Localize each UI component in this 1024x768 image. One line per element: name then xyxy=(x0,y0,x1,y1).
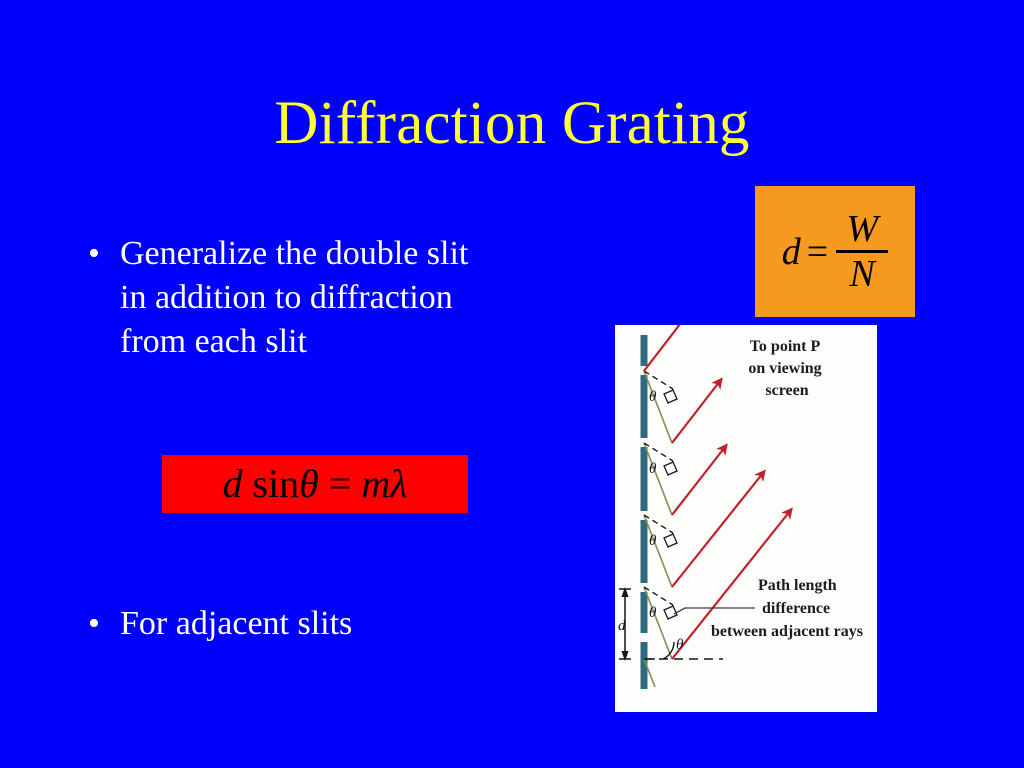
equation-equals: = xyxy=(329,461,352,506)
spacing-denominator-n: N xyxy=(844,253,881,293)
theta-label-3: θ xyxy=(649,533,657,549)
caption-to-point-p: To point P on viewing screen xyxy=(748,338,821,399)
diffraction-grating-figure: θ θ θ θ θ d xyxy=(615,325,877,712)
path-caption-line-1: Path length xyxy=(758,577,837,594)
spacing-fraction: W N xyxy=(836,210,888,293)
spacing-equation-box: d = W N xyxy=(755,186,915,317)
path-caption-line-3: between adjacent rays xyxy=(711,623,863,640)
caption-line-1: To point P xyxy=(750,338,821,355)
bullet-marker-icon: • xyxy=(88,232,120,276)
equation-symbol-lambda: λ xyxy=(390,461,407,506)
theta-label-4: θ xyxy=(649,605,657,621)
bullet-text-1: Generalize the double slit in addition t… xyxy=(120,232,480,365)
path-caption-line-2: difference xyxy=(762,600,830,617)
bullet-marker-icon: • xyxy=(88,602,120,646)
bullet-text-2: For adjacent slits xyxy=(120,602,352,646)
equation-symbol-d: d xyxy=(222,461,242,506)
theta-label-1: θ xyxy=(649,389,657,405)
spacing-symbol-d: d xyxy=(782,233,801,271)
spacing-numerator-w: W xyxy=(840,210,884,250)
theta-label-bottom: θ xyxy=(676,637,684,653)
grating-equation-box: d sinθ = mλ xyxy=(162,455,468,513)
slide-canvas: Diffraction Grating • Generalize the dou… xyxy=(0,0,1024,768)
equation-function-sin: sin xyxy=(252,461,299,506)
theta-labels: θ θ θ θ xyxy=(649,389,657,621)
slit-spacing-dimension: d xyxy=(618,587,631,661)
bullet-item-2: • For adjacent slits xyxy=(88,602,508,646)
page-title: Diffraction Grating xyxy=(0,92,1024,156)
equation-symbol-theta: θ xyxy=(299,461,319,506)
figure-svg: θ θ θ θ θ d xyxy=(615,325,877,712)
path-difference-segments xyxy=(644,371,672,687)
caption-line-3: screen xyxy=(765,382,808,399)
caption-line-2: on viewing xyxy=(748,360,821,377)
spacing-equals: = xyxy=(807,233,828,271)
spacing-equation: d = W N xyxy=(782,210,888,293)
path-length-leader xyxy=(674,608,755,614)
equation-symbol-m: m xyxy=(361,461,390,506)
bullet-item-1: • Generalize the double slit in addition… xyxy=(88,232,498,365)
grating-equation: d sinθ = mλ xyxy=(222,464,407,504)
theta-label-2: θ xyxy=(649,461,657,477)
spacing-label-d: d xyxy=(618,618,626,634)
